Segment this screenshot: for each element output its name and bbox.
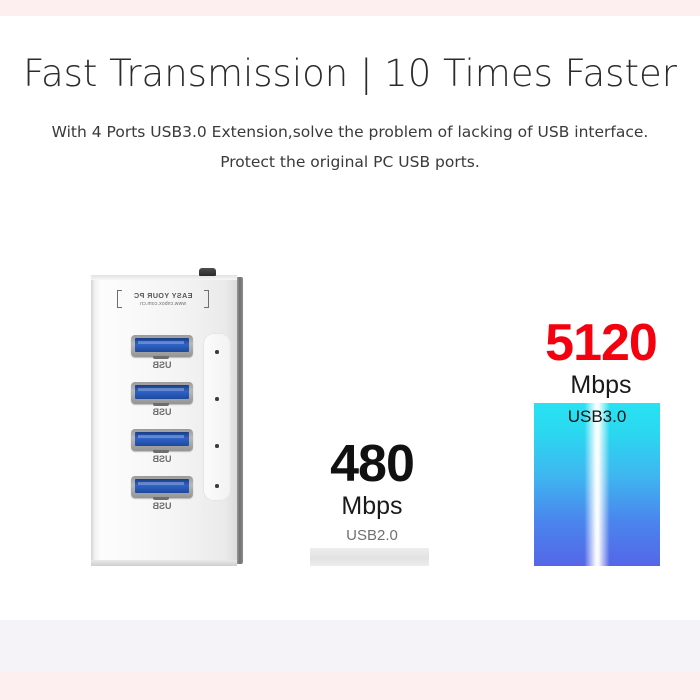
brand-bracket-right-icon [204, 290, 209, 308]
usb-hub-device: EASY YOUR PC www.cnbox.com.cn USB [91, 275, 243, 566]
usb2-speed-unit: Mbps [312, 491, 432, 521]
usb3-speed-group: 5120 Mbps [521, 316, 681, 400]
device-side-panel [237, 277, 243, 564]
usb-port-1[interactable]: USB [131, 335, 193, 382]
usb-port-icon [131, 429, 193, 451]
promo-banner: Fast Transmission | 10 Times Faster With… [0, 0, 700, 700]
usb3-speed-value: 5120 [521, 316, 681, 370]
led-indicator-icon [215, 444, 219, 448]
top-accent-band [0, 0, 700, 16]
usb-port-icon [131, 335, 193, 357]
led-indicator-panel [203, 333, 231, 501]
device-brand-logo: EASY YOUR PC www.cnbox.com.cn [122, 291, 204, 307]
usb-port-label: USB [131, 360, 193, 370]
usb2-speed-value: 480 [312, 437, 432, 491]
led-indicator-icon [215, 350, 219, 354]
lavender-accent-band [0, 620, 700, 672]
led-indicator-icon [215, 484, 219, 488]
usb-port-icon [131, 476, 193, 498]
usb-port-stack: USB USB USB [131, 335, 193, 523]
usb-port-icon [131, 382, 193, 404]
usb3-speed-bar [534, 403, 660, 566]
device-body: EASY YOUR PC www.cnbox.com.cn USB [91, 275, 237, 566]
subtitle-line-2: Protect the original PC USB ports. [0, 153, 700, 171]
bottom-accent-band [0, 672, 700, 700]
usb-port-notch [153, 450, 169, 453]
usb-port-notch [153, 403, 169, 406]
usb-port-notch [153, 497, 169, 500]
usb2-speed-group: 480 Mbps USB2.0 [312, 437, 432, 544]
usb-port-inner [135, 432, 189, 446]
brand-name: EASY YOUR PC [122, 291, 204, 300]
subtitle-line-1: With 4 Ports USB3.0 Extension,solve the … [0, 123, 700, 141]
usb-port-label: USB [131, 501, 193, 511]
usb-port-notch [153, 356, 169, 359]
usb-port-4[interactable]: USB [131, 476, 193, 523]
usb2-speed-bar [310, 548, 429, 566]
usb2-standard-label: USB2.0 [312, 527, 432, 544]
usb-port-label: USB [131, 454, 193, 464]
page-title: Fast Transmission | 10 Times Faster [0, 52, 700, 95]
usb-port-2[interactable]: USB [131, 382, 193, 429]
usb-port-inner [135, 338, 189, 352]
brand-website: www.cnbox.com.cn [122, 301, 204, 307]
cable-connector-icon [199, 268, 216, 276]
usb-port-inner [135, 385, 189, 399]
usb-port-3[interactable]: USB [131, 429, 193, 476]
usb3-speed-unit: Mbps [521, 370, 681, 400]
usb-port-label: USB [131, 407, 193, 417]
usb-port-inner [135, 479, 189, 493]
led-indicator-icon [215, 397, 219, 401]
device-bottom-edge [91, 560, 237, 566]
usb3-standard-label: USB3.0 [534, 407, 660, 427]
